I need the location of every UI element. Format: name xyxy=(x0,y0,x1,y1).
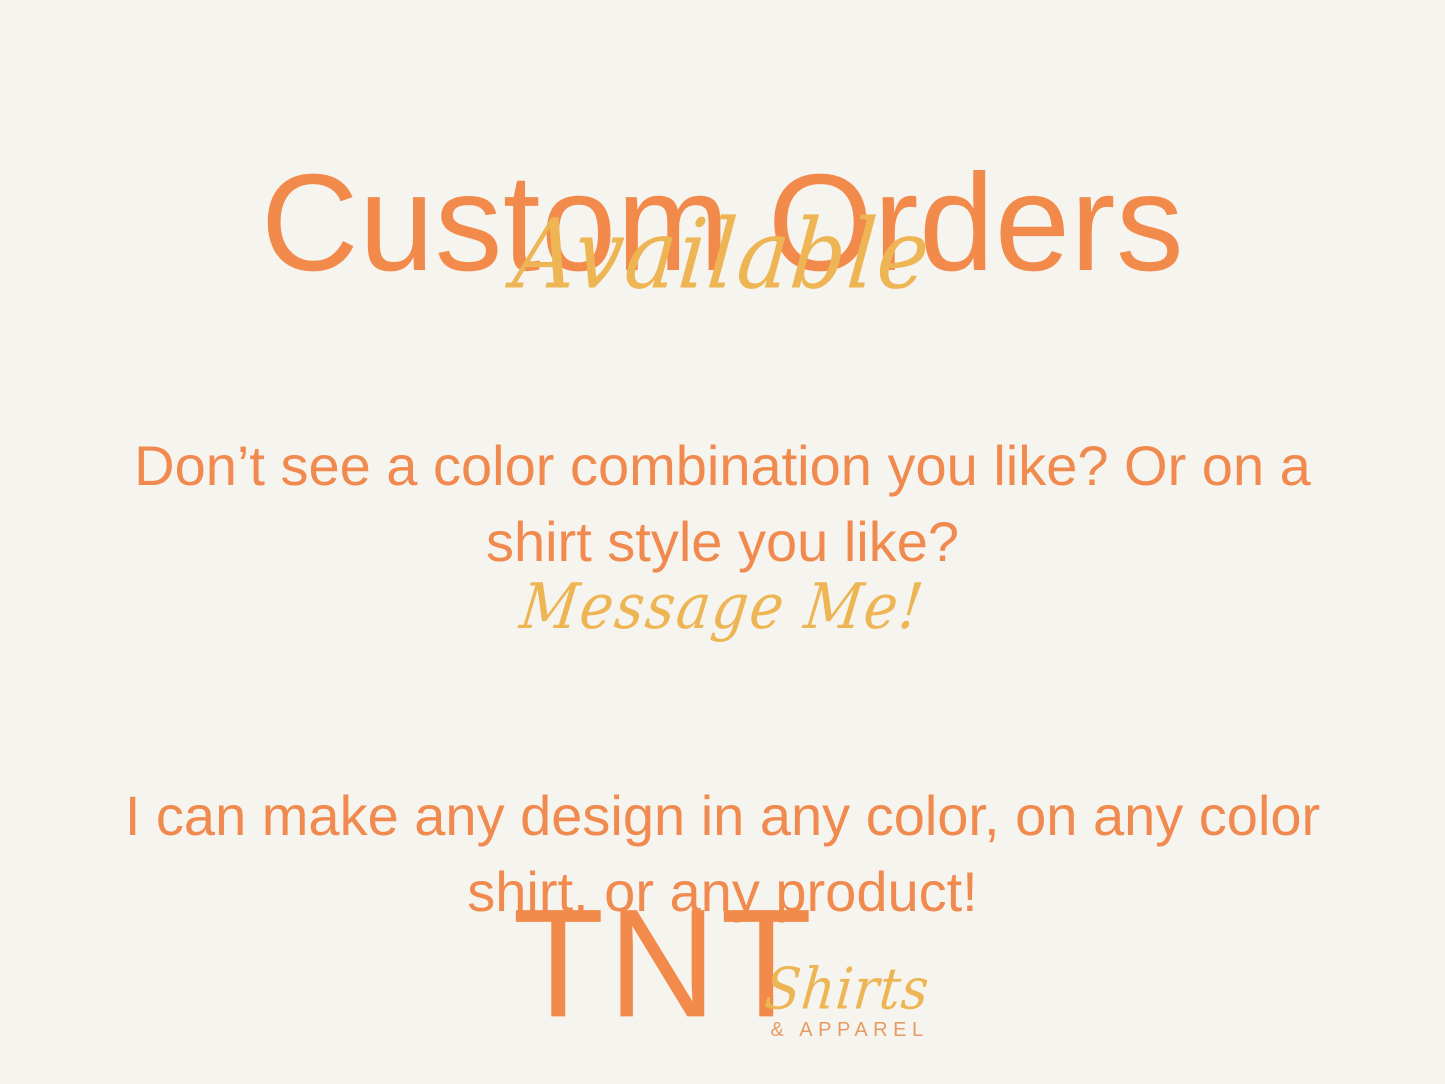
brand-logo-tagline: & APPAREL xyxy=(771,1020,929,1040)
body-question-text: Don’t see a color combination you like? … xyxy=(78,428,1368,580)
poster-canvas: Custom Orders Available Don’t see a colo… xyxy=(0,0,1445,1084)
brand-logo: TNT Shirts & APPAREL xyxy=(513,900,933,1060)
brand-logo-script: Shirts xyxy=(762,961,932,1018)
call-to-action-script: Message Me! xyxy=(0,577,1445,640)
headline-script-subtitle: Available xyxy=(0,207,1445,303)
